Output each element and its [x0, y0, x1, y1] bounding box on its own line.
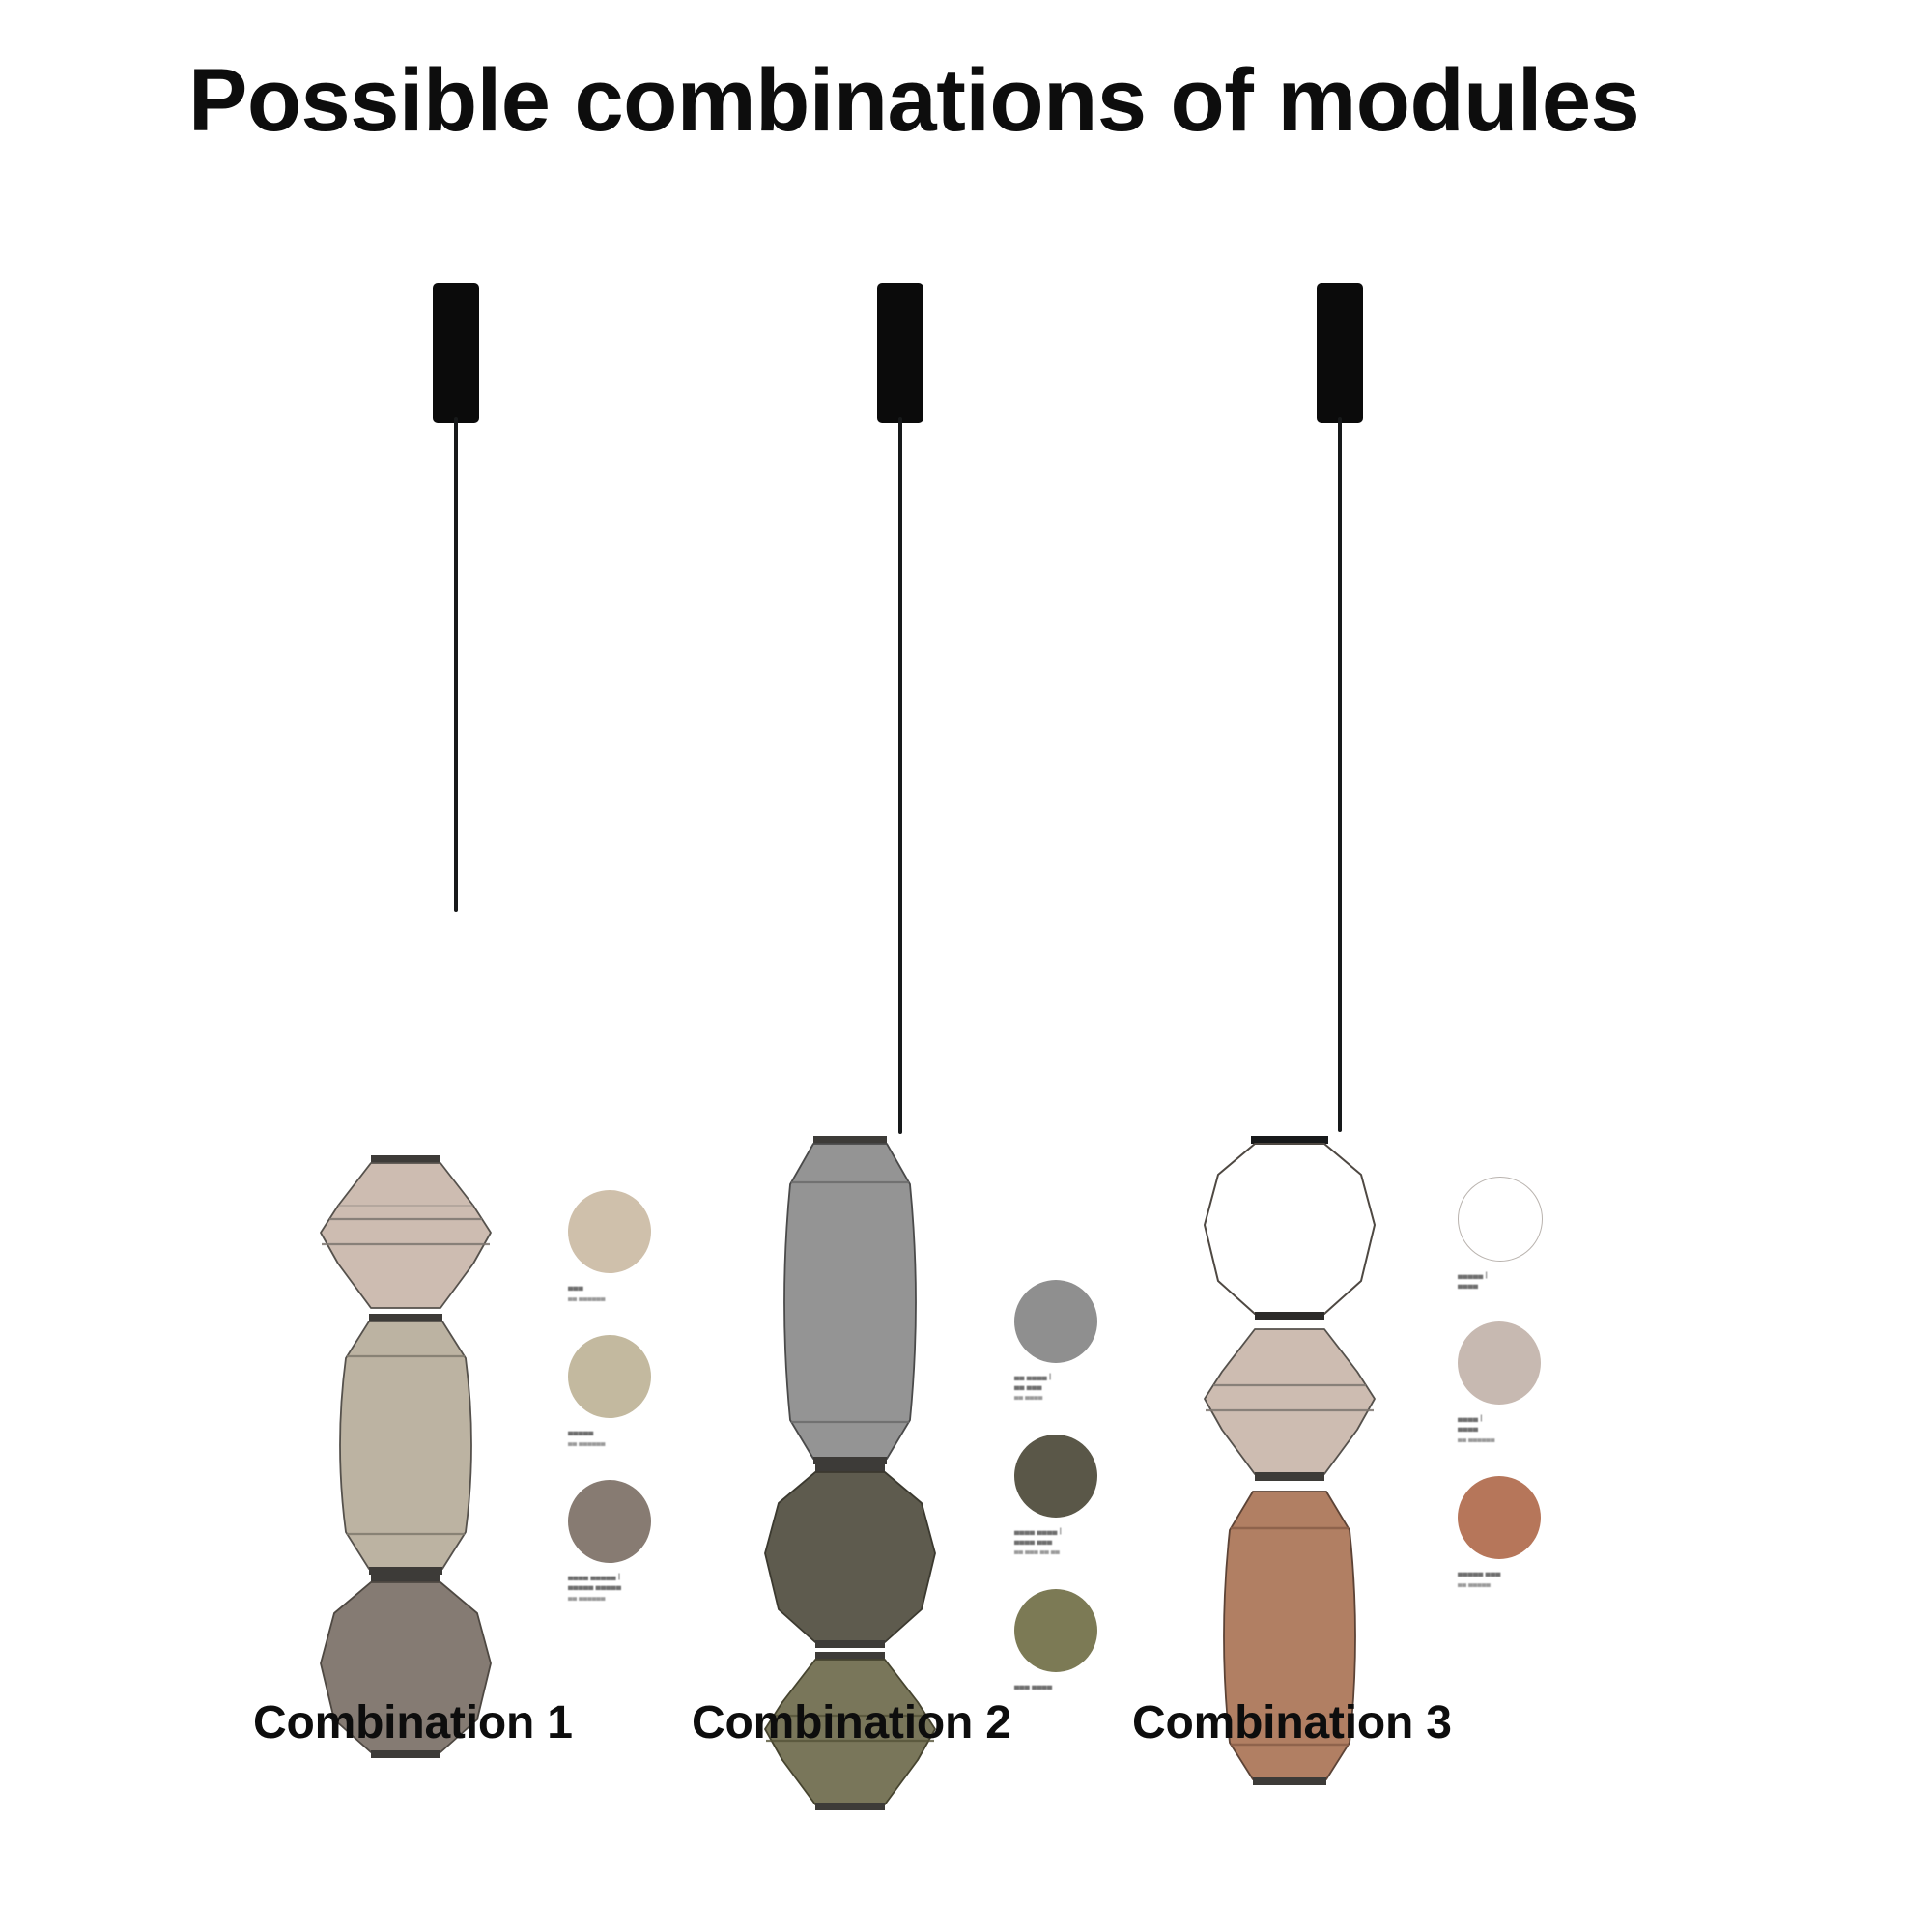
- diamond-module: [1195, 1323, 1485, 1488]
- swatch-label: ▄▄▄▄▄ ▄▄▄: [1458, 1568, 1603, 1577]
- swatch-column: ▄▄▄▄▄ | ▄▄▄▄ ▄▄▄▄ | ▄▄▄▄ ▄▄ ▄▄▄▄▄▄ ▄▄▄▄▄…: [1458, 1177, 1603, 1598]
- combination-1-column: ▄▄▄ ▄▄ ▄▄▄▄▄▄ ▄▄▄▄▄ ▄▄ ▄▄▄▄▄▄ ▄▄▄▄ ▄▄▄▄▄…: [222, 0, 667, 1932]
- barrel-module: [311, 1314, 601, 1577]
- diamond-module: [311, 1155, 601, 1316]
- swatch-label: ▄▄▄▄ | ▄▄▄▄: [1458, 1413, 1603, 1432]
- swatch-code: ▄▄ ▄▄▄▄▄: [1458, 1580, 1603, 1588]
- ceiling-canopy: [1317, 283, 1363, 423]
- swatch-dot: [568, 1335, 651, 1418]
- caption-combination-2: Combination 2: [692, 1696, 1011, 1749]
- swatch-dot: [1458, 1177, 1543, 1262]
- sphere-module: [755, 1464, 1045, 1654]
- module-stack: [311, 1155, 601, 1764]
- swatch-dot: [568, 1190, 651, 1273]
- swatch-item[interactable]: ▄▄▄▄▄ ▄▄▄ ▄▄ ▄▄▄▄▄: [1458, 1476, 1603, 1588]
- ceiling-canopy: [877, 283, 923, 423]
- swatch-dot: [1458, 1476, 1541, 1559]
- caption-combination-1: Combination 1: [253, 1696, 573, 1749]
- swatch-dot: [1014, 1280, 1097, 1363]
- ceiling-canopy: [433, 283, 479, 423]
- swatch-code: ▄▄ ▄▄▄▄▄▄: [1458, 1435, 1603, 1443]
- sphere-module: [1195, 1136, 1485, 1325]
- caption-combination-3: Combination 3: [1132, 1696, 1452, 1749]
- swatch-item[interactable]: ▄▄▄▄ | ▄▄▄▄ ▄▄ ▄▄▄▄▄▄: [1458, 1321, 1603, 1443]
- suspension-cord: [898, 417, 902, 1134]
- swatch-dot: [1014, 1589, 1097, 1672]
- swatch-dot: [1014, 1435, 1097, 1518]
- suspension-cord: [1338, 417, 1342, 1132]
- module-stack: [1195, 1136, 1485, 1787]
- swatch-dot: [568, 1480, 651, 1563]
- page-canvas: Possible combinations of modules: [0, 0, 1932, 1932]
- suspension-cord: [454, 417, 458, 912]
- barrel-module: [755, 1136, 1045, 1466]
- swatch-item[interactable]: ▄▄▄▄▄ | ▄▄▄▄: [1458, 1177, 1603, 1289]
- combination-3-column: ▄▄▄▄▄ | ▄▄▄▄ ▄▄▄▄ | ▄▄▄▄ ▄▄ ▄▄▄▄▄▄ ▄▄▄▄▄…: [1106, 0, 1550, 1932]
- swatch-dot: [1458, 1321, 1541, 1405]
- combination-2-column: ▄▄ ▄▄▄▄ | ▄▄ ▄▄▄ ▄▄ ▄▄▄▄ ▄▄▄▄ ▄▄▄▄ | ▄▄▄…: [667, 0, 1111, 1932]
- swatch-label: ▄▄▄▄▄ | ▄▄▄▄: [1458, 1270, 1603, 1289]
